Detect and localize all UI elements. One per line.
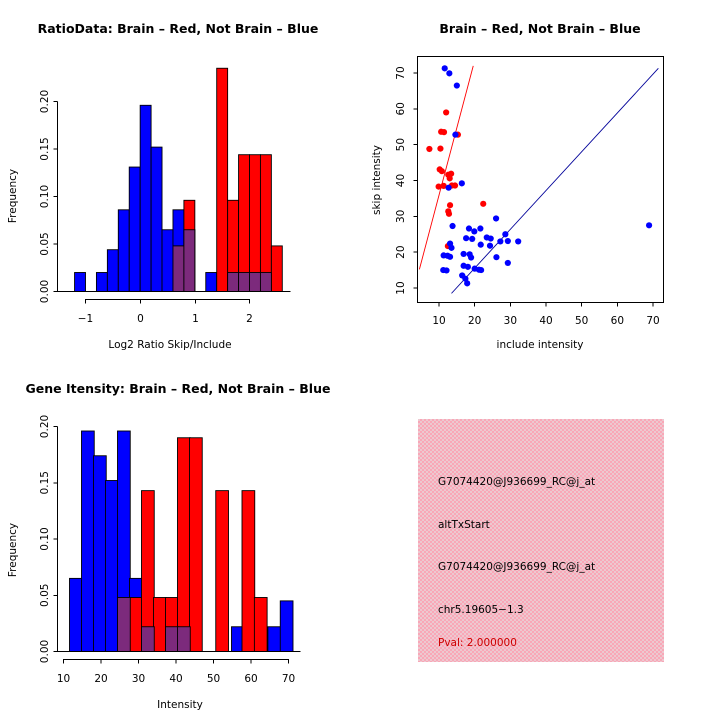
gene-hist-bar-group <box>70 431 294 652</box>
info-box: G7074420@J936699_RC@j_at altTxStart G707… <box>418 419 664 662</box>
histogram-bar <box>173 246 184 292</box>
ratio-hist-x-axis <box>86 300 250 304</box>
scatter-x-tick-marks <box>439 303 653 307</box>
ratio-hist-ytick-1: 0.05 <box>39 232 51 255</box>
scatter-title: Brain – Red, Not Brain – Blue <box>439 21 640 36</box>
scatter-ytick: 50 <box>395 138 407 151</box>
gene-hist-xlabel: Intensity <box>157 699 203 711</box>
ratio-hist-xtick-2: 1 <box>192 313 199 325</box>
gene-hist-xtick: 70 <box>282 673 295 685</box>
scatter-x-axis: 10203040506070 <box>432 303 659 328</box>
histogram-bar <box>268 627 281 652</box>
scatter-point <box>466 225 472 231</box>
scatter-point <box>447 175 453 181</box>
histogram-bar <box>130 598 143 652</box>
scatter-point <box>426 146 432 152</box>
scatter-point <box>487 243 493 249</box>
histogram-bar <box>242 491 255 652</box>
ratio-hist-xtick-1: 0 <box>137 313 144 325</box>
probe-id-primary: G7074420@J936699_RC@j_at <box>438 476 595 488</box>
scatter-ylabel: skip intensity <box>371 145 383 215</box>
histogram-bar <box>162 230 173 292</box>
scatter-point <box>441 129 447 135</box>
scatter-point <box>497 238 503 244</box>
scatter-ytick: 10 <box>395 281 407 294</box>
scatter-point <box>463 235 469 241</box>
histogram-bar <box>260 273 271 292</box>
scatter-point <box>468 254 474 260</box>
histogram-bar <box>178 438 191 652</box>
gene-hist-y-axis <box>54 427 58 652</box>
scatter-point <box>446 185 452 191</box>
histogram-bar <box>70 578 83 651</box>
histogram-bar <box>96 273 107 292</box>
histogram-bar <box>280 601 293 652</box>
gene-hist-ytick-1: 0.05 <box>39 584 51 607</box>
scatter-point <box>452 182 458 188</box>
gene-hist-xtick: 30 <box>132 673 145 685</box>
histogram-bar <box>206 273 217 292</box>
ratio-hist-ytick-4: 0.20 <box>39 90 51 113</box>
scatter-point <box>454 82 460 88</box>
scatter-plot-frame <box>418 57 664 303</box>
gene-hist-ytick-4: 0.20 <box>39 415 51 438</box>
scatter-fit-line <box>451 68 658 293</box>
ratio-histogram-svg: RatioData: Brain – Red, Not Brain – Blue… <box>0 0 360 360</box>
scatter-point <box>478 267 484 273</box>
gene-hist-svg: Gene Itensity: Brain – Red, Not Brain – … <box>0 360 360 720</box>
ratio-hist-ylabel: Frequency <box>7 169 19 223</box>
scatter-point <box>502 231 508 237</box>
scatter-y-axis: 10203040506070 <box>395 66 418 294</box>
scatter-ytick: 70 <box>395 66 407 79</box>
scatter-point <box>477 225 483 231</box>
scatter-point <box>459 180 465 186</box>
ratio-hist-ytick-2: 0.10 <box>39 185 51 208</box>
histogram-bar <box>184 230 195 292</box>
scatter-point <box>461 251 467 257</box>
scatter-point <box>447 202 453 208</box>
intensity-scatter-svg: Brain – Red, Not Brain – Blue 1020304050… <box>360 0 720 360</box>
scatter-ytick: 40 <box>395 174 407 187</box>
ratio-hist-bar-group <box>75 68 283 291</box>
ratio-hist-xlabel: Log2 Ratio Skip/Include <box>108 339 231 351</box>
histogram-bar <box>142 627 155 652</box>
scatter-point <box>469 236 475 242</box>
histogram-bar <box>118 598 131 652</box>
scatter-xtick: 50 <box>575 315 588 327</box>
scatter-point <box>442 65 448 71</box>
scatter-point <box>471 228 477 234</box>
scatter-xtick: 40 <box>539 315 552 327</box>
probe-id-secondary: G7074420@J936699_RC@j_at <box>438 561 595 573</box>
scatter-point <box>439 168 445 174</box>
gene-hist-xtick: 20 <box>94 673 107 685</box>
scatter-point <box>443 267 449 273</box>
gene-hist-xtick: 10 <box>57 673 70 685</box>
gene-hist-tick-marks <box>64 660 289 664</box>
scatter-ytick: 20 <box>395 245 407 258</box>
ratio-histogram-panel: RatioData: Brain – Red, Not Brain – Blue… <box>0 0 360 360</box>
histogram-bar <box>75 273 86 292</box>
gene-hist-title: Gene Itensity: Brain – Red, Not Brain – … <box>26 381 331 396</box>
histogram-bar <box>178 627 191 652</box>
plot-grid-page: RatioData: Brain – Red, Not Brain – Blue… <box>0 0 720 720</box>
pvalue: Pval: 2.000000 <box>438 637 517 649</box>
scatter-point <box>646 222 652 228</box>
scatter-content-group <box>419 65 658 293</box>
ratio-hist-ytick-3: 0.15 <box>39 137 51 160</box>
scatter-xtick: 60 <box>611 315 624 327</box>
gene-hist-xtick: 50 <box>207 673 220 685</box>
histogram-bar <box>271 246 282 292</box>
ratio-histogram-title: RatioData: Brain – Red, Not Brain – Blue <box>38 21 319 36</box>
histogram-bar <box>260 155 271 292</box>
histogram-bar <box>239 155 250 292</box>
locus: chr5.19605−1.3 <box>438 604 524 616</box>
histogram-bar <box>107 250 118 292</box>
gene-hist-ytick-3: 0.15 <box>39 471 51 494</box>
histogram-bar <box>217 68 228 291</box>
histogram-bar <box>190 438 203 652</box>
histogram-bar <box>216 491 229 652</box>
scatter-xtick: 70 <box>646 315 659 327</box>
gene-hist-x-axis: 10203040506070 <box>57 660 295 686</box>
gene-hist-ylabel: Frequency <box>7 523 19 577</box>
scatter-point <box>448 245 454 251</box>
scatter-point <box>464 280 470 286</box>
scatter-point <box>515 238 521 244</box>
scatter-point <box>478 242 484 248</box>
scatter-fit-lines <box>419 66 658 294</box>
scatter-point <box>452 132 458 138</box>
scatter-point <box>447 254 453 260</box>
scatter-point <box>505 260 511 266</box>
scatter-point <box>437 146 443 152</box>
histogram-bar <box>239 273 250 292</box>
gene-hist-xtick: 60 <box>244 673 257 685</box>
histogram-bar <box>94 456 107 652</box>
scatter-point <box>446 211 452 217</box>
ratio-hist-xtick-3: 2 <box>246 313 253 325</box>
scatter-xtick: 20 <box>468 315 481 327</box>
scatter-point <box>493 215 499 221</box>
histogram-bar <box>129 167 140 291</box>
ratio-hist-ytick-0: 0.00 <box>39 280 51 303</box>
scatter-point <box>493 254 499 260</box>
gene-hist-ytick-0: 0.00 <box>39 640 51 663</box>
scatter-point-group <box>426 65 652 286</box>
scatter-point <box>505 238 511 244</box>
scatter-y-tick-marks <box>414 73 418 288</box>
scatter-point <box>446 70 452 76</box>
histogram-bar <box>166 627 179 652</box>
scatter-ytick: 30 <box>395 210 407 223</box>
gene-hist-ytick-2: 0.10 <box>39 527 51 550</box>
annotation-info-panel: G7074420@J936699_RC@j_at altTxStart G707… <box>360 360 720 720</box>
histogram-bar <box>140 105 151 291</box>
scatter-xlabel: include intensity <box>497 339 584 351</box>
scatter-point <box>488 235 494 241</box>
histogram-bar <box>254 598 267 652</box>
histogram-bar <box>154 598 167 652</box>
intensity-scatter-panel: Brain – Red, Not Brain – Blue 1020304050… <box>360 0 720 360</box>
scatter-xtick: 10 <box>432 315 445 327</box>
histogram-bar <box>151 147 162 291</box>
histogram-bar <box>228 273 239 292</box>
histogram-bar <box>250 273 261 292</box>
histogram-bar <box>106 481 119 652</box>
gene-hist-xtick: 40 <box>169 673 182 685</box>
scatter-point <box>480 201 486 207</box>
scatter-ytick: 60 <box>395 102 407 115</box>
scatter-xtick: 30 <box>504 315 517 327</box>
gene-intensity-histogram-panel: Gene Itensity: Brain – Red, Not Brain – … <box>0 360 360 720</box>
histogram-bar <box>82 431 95 652</box>
scatter-point <box>443 109 449 115</box>
scatter-point <box>465 264 471 270</box>
histogram-bar <box>118 210 129 292</box>
scatter-point <box>449 223 455 229</box>
event-type: altTxStart <box>438 519 490 531</box>
histogram-bar <box>250 155 261 292</box>
ratio-hist-y-axis <box>54 102 58 292</box>
ratio-hist-xtick-0: −1 <box>78 313 93 325</box>
